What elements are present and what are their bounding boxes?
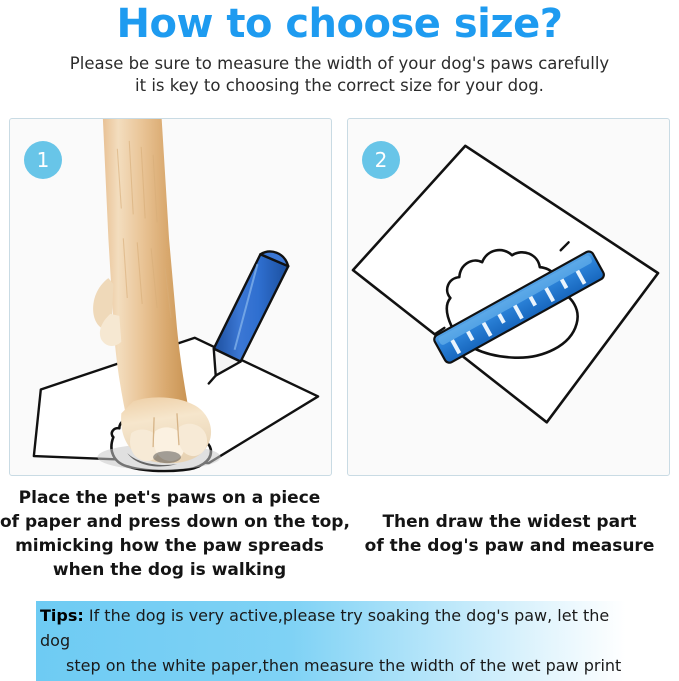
captions-row: Place the pet's paws on a piece of paper…	[0, 486, 679, 586]
step-1-panel: 1	[9, 118, 332, 476]
paw-on-paper-illustration	[10, 119, 331, 475]
step-2-panel: 2	[347, 118, 670, 476]
caption-1-line-4: when the dog is walking	[0, 558, 339, 582]
tips-text-2: step on the white paper,then measure the…	[40, 653, 640, 678]
caption-1-line-1: Place the pet's paws on a piece	[0, 486, 339, 510]
header: How to choose size? Please be sure to me…	[0, 0, 679, 97]
tips-text-1: If the dog is very active,please try soa…	[40, 606, 609, 650]
paw-outline-with-ruler-illustration	[348, 119, 669, 475]
subtitle: Please be sure to measure the width of y…	[0, 47, 679, 97]
caption-1-line-2: of paper and press down on the top,	[0, 510, 339, 534]
steps-panel-group: 1	[0, 118, 679, 478]
step-1-caption: Place the pet's paws on a piece of paper…	[0, 486, 339, 582]
step-2-caption: Then draw the widest part of the dog's p…	[340, 486, 679, 558]
tips-line-1: Tips: If the dog is very active,please t…	[40, 603, 640, 653]
paper-sheet-2	[353, 146, 658, 422]
step-1-badge: 1	[24, 141, 62, 179]
caption-1-line-3: mimicking how the paw spreads	[0, 534, 339, 558]
page-title: How to choose size?	[0, 0, 679, 47]
caption-2-line-1: Then draw the widest part	[340, 510, 679, 534]
subtitle-line-1: Please be sure to measure the width of y…	[0, 53, 679, 75]
step-2-badge: 2	[362, 141, 400, 179]
caption-2-line-2: of the dog's paw and measure	[340, 534, 679, 558]
tips-label: Tips:	[40, 606, 84, 625]
tips-banner: Tips: If the dog is very active,please t…	[36, 601, 644, 681]
subtitle-line-2: it is key to choosing the correct size f…	[0, 75, 679, 97]
